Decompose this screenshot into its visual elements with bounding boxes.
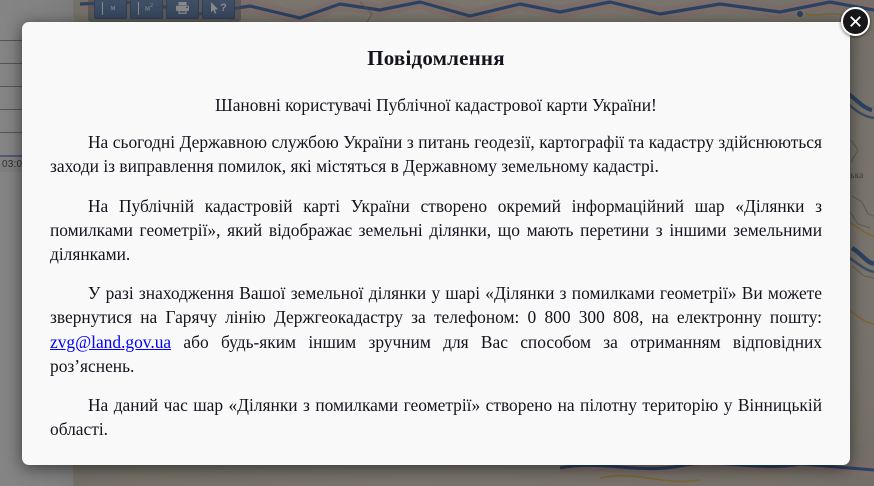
- email-link[interactable]: zvg@land.gov.ua: [50, 332, 171, 352]
- modal-paragraph-2: На Публічній кадастровій карті України с…: [50, 194, 822, 267]
- modal-paragraph-1: На сьогодні Державною службою України з …: [50, 130, 822, 178]
- close-x-icon: [849, 15, 862, 28]
- modal-paragraph-greeting: Шановні користувачі Публічної кадастрово…: [50, 93, 822, 117]
- modal-paragraph-3-pre: У разі знаходження Вашої земельної ділян…: [50, 283, 822, 327]
- modal-body: Повідомлення Шановні користувачі Публічн…: [22, 22, 850, 465]
- modal-paragraph-4: На даний час шар «Ділянки з помилками ге…: [50, 393, 822, 441]
- modal-paragraph-3: У разі знаходження Вашої земельної ділян…: [50, 281, 822, 378]
- close-button[interactable]: [841, 7, 870, 36]
- message-modal: Повідомлення Шановні користувачі Публічн…: [22, 22, 850, 465]
- modal-title: Повідомлення: [50, 46, 822, 71]
- app-root: ська 03:0 блічн аїни сл арт зах м м2: [0, 0, 874, 486]
